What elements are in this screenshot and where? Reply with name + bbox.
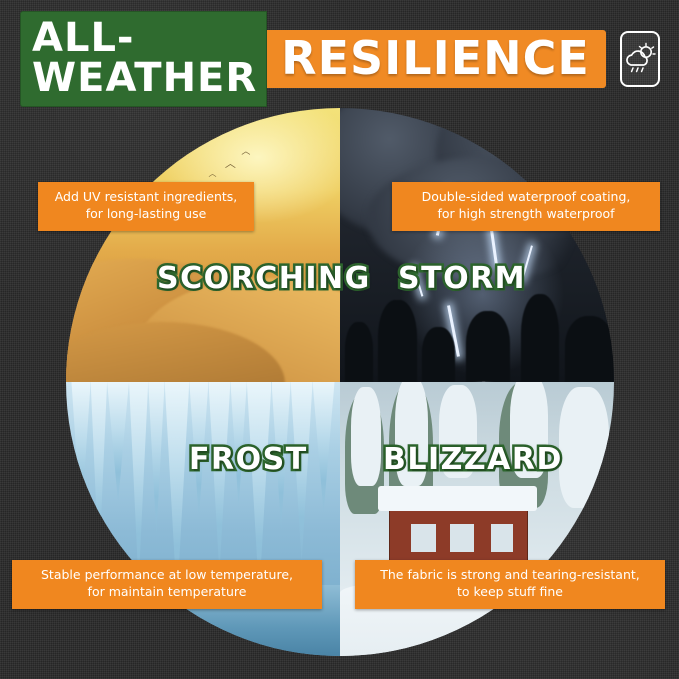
scene-blizzard: [340, 382, 614, 656]
callout-storm: Double-sided waterproof coating, for hig…: [392, 182, 660, 231]
scene-desert: ︿ ︿ ︿: [66, 108, 340, 382]
silhouette-tree: [345, 322, 372, 382]
silhouette-tree: [521, 294, 559, 382]
callout-line: The fabric is strong and tearing-resista…: [365, 567, 655, 584]
bird-icon: ︿: [208, 168, 216, 179]
cabin-window: [411, 524, 436, 551]
callout-scorching: Add UV resistant ingredients, for long-l…: [38, 182, 254, 231]
section-label-storm: STORM: [398, 261, 526, 296]
icicle: [91, 382, 107, 568]
silhouette-tree: [422, 327, 455, 382]
callout-line: Add UV resistant ingredients,: [48, 189, 244, 206]
icicle: [313, 382, 335, 514]
icicle: [148, 382, 164, 535]
scene-frost: [66, 382, 340, 656]
callout-frost: Stable performance at low temperature, f…: [12, 560, 322, 609]
callout-line: Stable performance at low temperature,: [22, 567, 312, 584]
callout-line: for long-lasting use: [48, 206, 244, 223]
title-wrap: ALL-WEATHER RESILIENCE: [20, 11, 606, 107]
silhouette-tree: [378, 300, 416, 382]
silhouette-tree: [466, 311, 510, 382]
sun-cloud-rain-icon: [620, 31, 660, 87]
section-label-frost: FROST: [189, 442, 308, 477]
cabin-window: [491, 524, 513, 551]
cabin-window: [450, 524, 475, 551]
snow-tree: [559, 387, 608, 508]
section-label-scorching: SCORCHING: [157, 261, 371, 296]
scene-storm: [340, 108, 614, 382]
callout-blizzard: The fabric is strong and tearing-resista…: [355, 560, 665, 609]
callout-line: Double-sided waterproof coating,: [402, 189, 650, 206]
page-title-part-1: ALL-WEATHER: [20, 11, 267, 107]
bird-icon: ︿: [225, 155, 236, 171]
icicle: [71, 382, 90, 524]
snow-tree: [351, 387, 381, 486]
icicle: [129, 382, 148, 585]
callout-line: for high strength waterproof: [402, 206, 650, 223]
bird-icon: ︿: [241, 144, 250, 157]
callout-line: to keep stuff fine: [365, 584, 655, 601]
product-feature-graphic: ALL-WEATHER RESILIENCE: [0, 0, 679, 679]
page-title-part-2: RESILIENCE: [267, 30, 606, 88]
icicle: [208, 382, 230, 574]
section-label-blizzard: BLIZZARD: [383, 442, 563, 477]
cabin-roof: [378, 486, 537, 511]
icicle: [107, 382, 129, 503]
callout-line: for maintain temperature: [22, 584, 312, 601]
header: ALL-WEATHER RESILIENCE: [20, 28, 659, 90]
silhouette-tree: [565, 316, 614, 382]
